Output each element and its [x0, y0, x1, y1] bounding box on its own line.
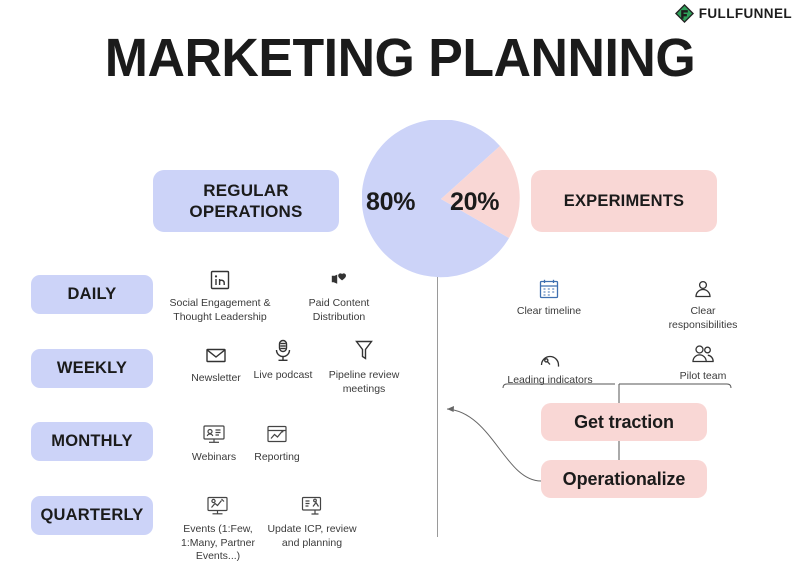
- caption-line1: Update ICP, review: [267, 523, 356, 537]
- cadence-chip-weekly: WEEKLY: [31, 349, 153, 388]
- caption-line1: Social Engagement &: [170, 297, 271, 311]
- report-chart-icon: [265, 418, 289, 446]
- calendar-icon: [538, 272, 560, 300]
- regular-operations-header: REGULAR OPERATIONS: [153, 170, 339, 232]
- feedback-curve: [447, 409, 541, 481]
- operation-item-newsletter: Newsletter: [181, 339, 251, 386]
- team-icon: [690, 337, 716, 365]
- outcome-get-traction: Get traction: [541, 403, 707, 441]
- cadence-chip-monthly: MONTHLY: [31, 422, 153, 461]
- fullfunnel-diamond-logo-icon: [675, 4, 694, 23]
- caption-line1: Events (1:Few,: [183, 523, 252, 537]
- column-divider: [437, 277, 438, 537]
- paid-promotion-icon: [327, 264, 351, 292]
- webinar-screen-icon: [201, 418, 227, 446]
- caption-line1: Newsletter: [191, 372, 241, 386]
- marketing-planning-infographic: FULLFUNNEL MARKETING PLANNING 80% 20% RE…: [0, 0, 800, 572]
- experiment-criterion-leading-indicators: Leading indicators: [498, 341, 602, 388]
- operation-item-live-podcast: Live podcast: [248, 336, 318, 383]
- caption-line2: Distribution: [313, 311, 366, 325]
- brand-name: FULLFUNNEL: [699, 6, 792, 21]
- caption-line1: Webinars: [192, 451, 236, 465]
- envelope-icon: [204, 339, 228, 367]
- operation-item-update-icp: Update ICP, review and planning: [262, 490, 362, 550]
- funnel-icon: [353, 336, 375, 364]
- experiment-criterion-pilot-team: Pilot team: [666, 337, 740, 384]
- linkedin-icon: [208, 264, 232, 292]
- caption-line1: Pipeline review: [329, 369, 400, 383]
- experiment-criterion-clear-timeline: Clear timeline: [508, 272, 590, 319]
- caption-line2: and planning: [282, 537, 342, 551]
- caption-line1: Leading indicators: [507, 374, 592, 388]
- split-pie-chart: 80% 20%: [362, 120, 520, 278]
- regular-operations-line2: OPERATIONS: [189, 201, 302, 222]
- cadence-chip-daily: DAILY: [31, 275, 153, 314]
- caption-line1: Live podcast: [254, 369, 313, 383]
- outcome-operationalize: Operationalize: [541, 460, 707, 498]
- caption-line2: responsibilities: [669, 319, 738, 333]
- planning-board-icon: [299, 490, 325, 518]
- page-title: MARKETING PLANNING: [16, 28, 784, 88]
- operation-item-events: Events (1:Few, 1:Many, Partner Events...…: [172, 490, 264, 564]
- brand-logo: FULLFUNNEL: [675, 4, 792, 23]
- events-presentation-icon: [205, 490, 231, 518]
- operation-item-reporting: Reporting: [244, 418, 310, 465]
- cadence-chip-quarterly: QUARTERLY: [31, 496, 153, 535]
- microphone-icon: [272, 336, 294, 364]
- caption-line2: Thought Leadership: [173, 311, 266, 325]
- pie-label-regular: 80%: [366, 188, 415, 217]
- caption-line1: Reporting: [254, 451, 300, 465]
- caption-line1: Clear timeline: [517, 305, 581, 319]
- caption-line2: 1:Many, Partner: [181, 537, 255, 551]
- regular-operations-line1: REGULAR: [189, 180, 302, 201]
- operation-item-social-engagement: Social Engagement & Thought Leadership: [164, 264, 276, 324]
- feedback-arrowhead: [447, 406, 454, 412]
- operation-item-webinars: Webinars: [180, 418, 248, 465]
- caption-line1: Paid Content: [309, 297, 370, 311]
- caption-line3: Events...): [196, 550, 240, 564]
- gauge-icon: [538, 341, 562, 369]
- caption-line2: meetings: [343, 383, 386, 397]
- operation-item-paid-content: Paid Content Distribution: [295, 264, 383, 324]
- caption-line1: Pilot team: [680, 370, 727, 384]
- experiments-header: EXPERIMENTS: [531, 170, 717, 232]
- pie-label-experiments: 20%: [450, 188, 499, 217]
- person-icon: [692, 272, 714, 300]
- operation-item-pipeline-review: Pipeline review meetings: [320, 336, 408, 396]
- caption-line1: Clear: [690, 305, 715, 319]
- experiment-criterion-clear-responsibilities: Clear responsibilities: [661, 272, 745, 332]
